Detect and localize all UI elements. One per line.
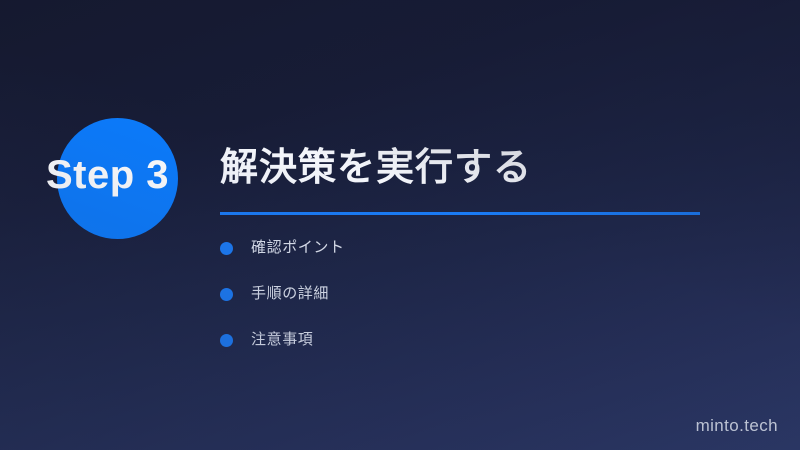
list-item-label: 注意事項 <box>251 328 313 352</box>
list-item-label: 手順の詳細 <box>251 282 329 306</box>
list-item-label: 確認ポイント <box>251 236 345 260</box>
list-item: 確認ポイント <box>220 236 680 260</box>
footer-watermark: minto.tech <box>696 416 778 436</box>
bullet-dot-icon <box>220 242 233 255</box>
presentation-slide: Step 3 解決策を実行する 確認ポイント 手順の詳細 注意事項 minto.… <box>0 0 800 450</box>
list-item: 手順の詳細 <box>220 282 680 306</box>
list-item: 注意事項 <box>220 328 680 352</box>
bullet-list: 確認ポイント 手順の詳細 注意事項 <box>220 236 680 374</box>
slide-title: 解決策を実行する <box>220 144 532 192</box>
bullet-dot-icon <box>220 288 233 301</box>
bullet-dot-icon <box>220 334 233 347</box>
title-divider <box>220 212 700 215</box>
